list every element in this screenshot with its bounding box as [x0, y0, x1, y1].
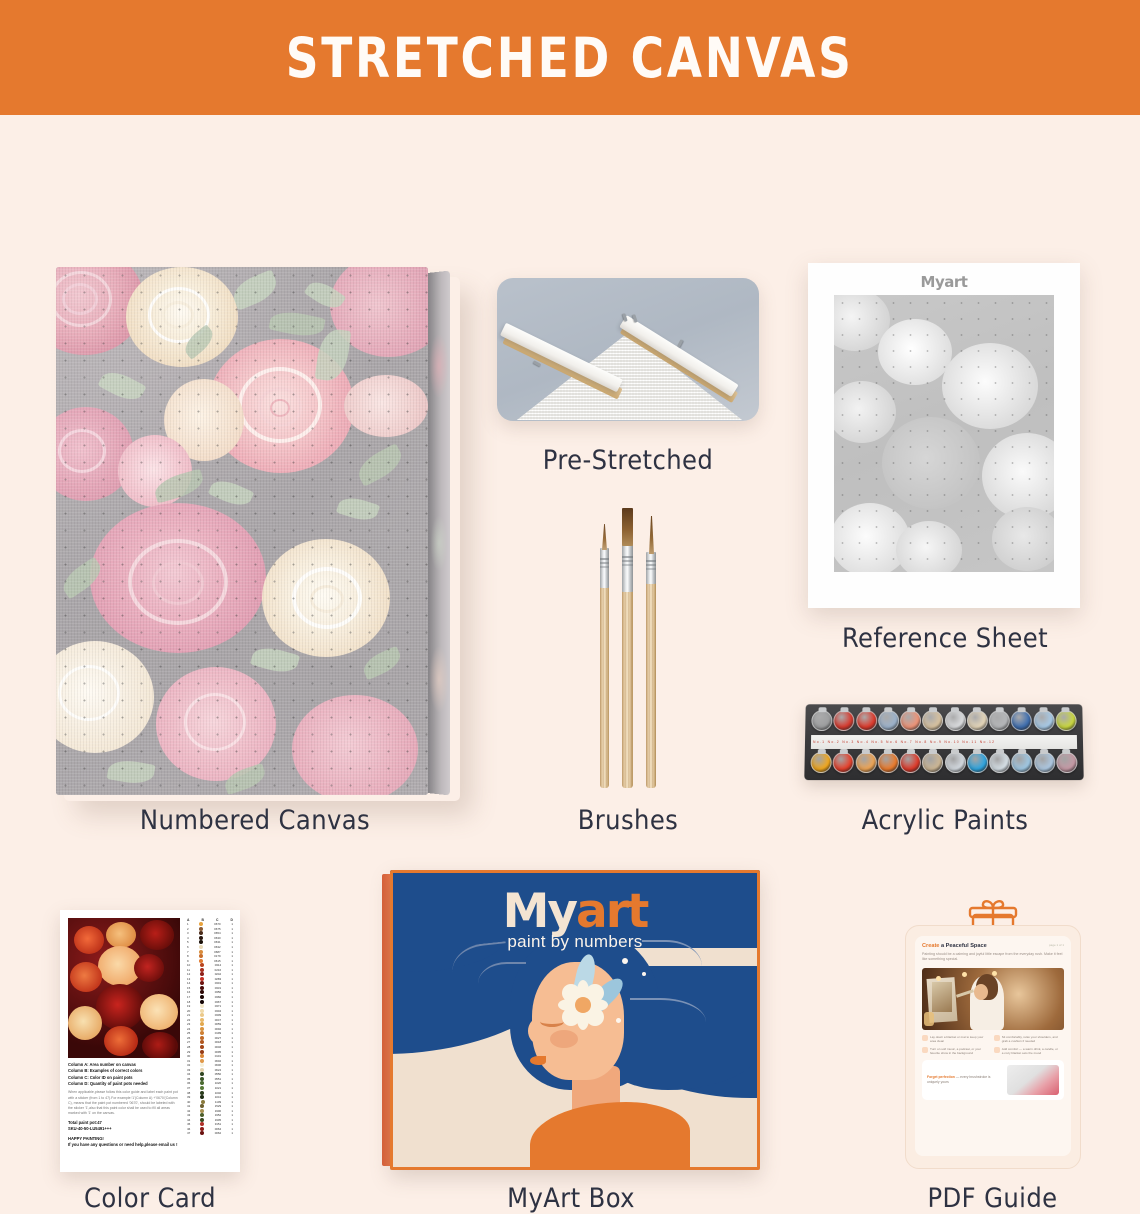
row-area-number: 16: [187, 990, 190, 994]
row-quantity: 1: [231, 1122, 233, 1126]
tip-item: Turn on soft music, a podcast, or your f…: [922, 1047, 989, 1056]
paint-pot[interactable]: [967, 752, 988, 773]
staple-icon: [677, 339, 683, 347]
paint-pot[interactable]: [1011, 752, 1032, 773]
paint-pot[interactable]: [1033, 710, 1054, 731]
brushes-item[interactable]: [586, 503, 670, 788]
paint-pot[interactable]: [945, 752, 966, 773]
row-area-number: 10: [187, 963, 190, 967]
row-area-number: 34: [187, 1072, 190, 1076]
row-quantity: 1: [231, 986, 233, 990]
row-area-number: 17: [187, 995, 190, 999]
row-quantity: 1: [231, 1127, 233, 1131]
row-area-number: 14: [187, 981, 190, 985]
row-area-number: 38: [187, 1091, 190, 1095]
row-color-id: 0092: [215, 1027, 221, 1031]
row-quantity: 1: [231, 1063, 233, 1067]
music-icon: [922, 1047, 928, 1053]
row-color-id: 0101: [215, 1054, 221, 1058]
pdf-page-number: page 1 of 1: [1049, 943, 1064, 947]
pdf-guide-subtitle: Painting should be a calming and joyful …: [922, 952, 1064, 963]
row-color-id: 1905: [215, 1118, 221, 1122]
blanket-icon: [922, 1035, 928, 1041]
row-area-number: 25: [187, 1031, 190, 1035]
row-color-id: 0687: [214, 950, 220, 954]
row-area-number: 40: [187, 1100, 190, 1104]
legend-line: Column D: Quantity of paint pots needed: [68, 1081, 180, 1087]
pdf-guide-page: page 1 of 1 Create a Peaceful Space Pain…: [915, 936, 1071, 1156]
row-area-number: 6: [187, 945, 189, 949]
row-area-number: 11: [187, 968, 190, 972]
myart-logo: Myart: [390, 884, 760, 939]
label-reference-sheet: Reference Sheet: [800, 623, 1090, 654]
row-area-number: 23: [187, 1022, 190, 1026]
logo-my-text: My: [503, 884, 576, 939]
row-area-number: 33: [187, 1068, 190, 1072]
row-quantity: 1: [231, 1091, 233, 1095]
sku: SKU-40-50-LU5491+++: [68, 1126, 180, 1133]
row-area-number: 30: [187, 1054, 190, 1058]
row-quantity: 1: [231, 1018, 233, 1022]
box-front-panel: Myart paint by numbers: [390, 870, 760, 1170]
rose-pattern-artwork: [56, 267, 428, 795]
row-color-id: 0046: [215, 1045, 221, 1049]
daisy-flower: [560, 982, 606, 1028]
label-pre-stretched: Pre-Stretched: [497, 445, 759, 476]
row-area-number: 24: [187, 1027, 190, 1031]
pre-stretched-photo: [497, 278, 759, 421]
row-color-id: 0360: [215, 995, 221, 999]
row-quantity: 1: [231, 1045, 233, 1049]
row-color-id: 0216: [215, 968, 221, 972]
row-quantity: 1: [231, 1009, 233, 1013]
color-card-photo: [68, 918, 180, 1058]
row-color-id: 1040: [215, 1091, 221, 1095]
paint-pot[interactable]: [989, 752, 1010, 773]
row-area-number: 46: [187, 1127, 190, 1131]
product-contents-stage: Numbered Canvas Pre-Stretched Myart: [0, 115, 1140, 1140]
row-color-id: 0615: [214, 959, 220, 963]
reference-sheet-paper: Myart: [808, 263, 1080, 608]
paint-pot[interactable]: [810, 752, 831, 773]
brush-bristles: [622, 508, 633, 546]
row-color-id: 0331: [215, 986, 221, 990]
reference-sheet-logo: Myart: [808, 273, 1080, 291]
footer-text: Forget perfection — every brushstroke is…: [927, 1075, 1002, 1085]
row-color-id: 0047: [215, 1018, 221, 1022]
row-color-swatch: [201, 1100, 205, 1104]
row-color-id: 1020: [215, 1081, 221, 1085]
paint-pot[interactable]: [833, 710, 854, 731]
paint-strip-text: No.1 No.2 No.3 No.4 No.5 No.6 No.7 No.8 …: [811, 740, 995, 744]
row-quantity: 1: [231, 950, 233, 954]
tip-item: Lay down a blanket or mat to keep your a…: [922, 1035, 989, 1044]
pdf-guide-title: Create a Peaceful Space: [922, 943, 1064, 949]
brush-flat: [622, 507, 633, 788]
row-area-number: 35: [187, 1077, 190, 1081]
row-color-id: 0631: [214, 940, 220, 944]
paint-pot[interactable]: [878, 752, 899, 773]
row-color-id: 0018: [215, 1040, 221, 1044]
reference-sheet-item[interactable]: Myart: [808, 263, 1080, 608]
row-area-number: 21: [187, 1013, 190, 1017]
row-color-id: 0350: [215, 990, 221, 994]
row-color-id: 1021: [215, 1086, 221, 1090]
row-quantity: 1: [231, 1113, 233, 1117]
paint-pot-row-bottom: [810, 752, 1077, 773]
paint-pot-label-strip: No.1 No.2 No.3 No.4 No.5 No.6 No.7 No.8 …: [811, 735, 1077, 749]
row-color-id: 0179: [214, 954, 220, 958]
paint-pot[interactable]: [900, 710, 921, 731]
paint-pot[interactable]: [922, 752, 943, 773]
paint-pot[interactable]: [1034, 752, 1055, 773]
row-area-number: 32: [187, 1063, 190, 1067]
row-quantity: 1: [231, 977, 233, 981]
row-area-number: 42: [187, 1109, 190, 1113]
label-acrylic-paints: Acrylic Paints: [800, 805, 1090, 836]
row-color-id: 0283: [215, 977, 221, 981]
row-color-id: 0059: [215, 1022, 221, 1026]
candle-icon: [994, 1047, 1000, 1053]
pdf-guide-tips: Lay down a blanket or mat to keep your a…: [922, 1035, 1064, 1056]
row-quantity: 1: [231, 1104, 233, 1108]
row-area-number: 26: [187, 1036, 190, 1040]
paint-pot-row-top: [811, 710, 1077, 731]
row-area-number: 45: [187, 1122, 190, 1126]
row-color-id: 0606: [215, 1063, 221, 1067]
paint-pot[interactable]: [833, 752, 854, 773]
numbered-canvas-item[interactable]: [56, 267, 456, 797]
row-area-number: 27: [187, 1040, 190, 1044]
row-color-id: 0367: [215, 1000, 221, 1004]
brush-liner: [646, 516, 656, 788]
row-quantity: 1: [231, 972, 233, 976]
row-quantity: 1: [231, 1013, 233, 1017]
row-quantity: 1: [231, 936, 233, 940]
row-quantity: 1: [231, 1109, 233, 1113]
brush-fine: [600, 526, 609, 788]
row-color-id: 1109: [215, 1100, 221, 1104]
row-quantity: 1: [231, 1000, 233, 1004]
row-quantity: 1: [231, 1131, 233, 1135]
label-pdf-guide: PDF Guide: [875, 1183, 1110, 1214]
paint-pot[interactable]: [967, 710, 988, 731]
row-color-id: 1900: [215, 1109, 221, 1113]
paint-pot[interactable]: [1011, 710, 1032, 731]
pre-stretched-item[interactable]: [497, 278, 759, 421]
row-color-id: 0630: [214, 936, 220, 940]
row-color-id: 0095: [215, 1050, 221, 1054]
reference-sheet-artwork: [834, 295, 1054, 572]
row-color-id: 0602: [215, 1059, 221, 1063]
paint-pot[interactable]: [856, 710, 877, 731]
pdf-title-rest: a Peaceful Space: [939, 943, 986, 949]
pdf-guide-card: page 1 of 1 Create a Peaceful Space Pain…: [905, 925, 1081, 1169]
row-area-number: 13: [187, 977, 190, 981]
row-color-id: 1041: [215, 1095, 221, 1099]
brush-bristles: [649, 516, 654, 554]
row-quantity: 1: [231, 954, 233, 958]
row-quantity: 1: [231, 1077, 233, 1081]
paint-pot[interactable]: [945, 710, 966, 731]
tip-text: Sit comfortably, relax your shoulders, a…: [1002, 1035, 1061, 1044]
tip-text: Lay down a blanket or mat to keep your a…: [930, 1035, 989, 1044]
row-color-id: 0309: [215, 1013, 221, 1017]
row-color-id: 0199: [215, 1031, 221, 1035]
color-card-item[interactable]: Column A: Area number on canvas Column B…: [60, 910, 240, 1172]
row-quantity: 1: [231, 959, 233, 963]
row-area-number: 43: [187, 1113, 190, 1117]
color-card-note: When applicable,please follow this color…: [68, 1090, 180, 1116]
row-color-id: 0551: [215, 1077, 221, 1081]
row-area-number: 41: [187, 1104, 190, 1108]
row-color-id: 0064: [215, 1127, 221, 1131]
row-area-number: 29: [187, 1050, 190, 1054]
row-quantity: 1: [231, 968, 233, 972]
row-color-id: 0550: [215, 1072, 221, 1076]
acrylic-paints-item[interactable]: No.1 No.2 No.3 No.4 No.5 No.6 No.7 No.8 …: [805, 704, 1083, 780]
cushion-icon: [994, 1035, 1000, 1041]
row-area-number: 18: [187, 1000, 190, 1004]
row-area-number: 19: [187, 1004, 190, 1008]
paint-pot[interactable]: [1055, 710, 1076, 731]
page-header: STRETCHED CANVAS: [0, 0, 1140, 115]
row-quantity: 1: [231, 927, 233, 931]
color-card-legend: Column A: Area number on canvas Column B…: [68, 1062, 180, 1149]
canvas-wrapped-edge: [428, 270, 450, 795]
row-quantity: 1: [231, 981, 233, 985]
row-area-number: 12: [187, 972, 190, 976]
row-area-number: 3: [187, 931, 189, 935]
label-numbered-canvas: Numbered Canvas: [55, 805, 455, 836]
row-color-id: 0632: [214, 945, 220, 949]
pdf-guide-photo: [922, 968, 1064, 1030]
row-quantity: 1: [231, 1004, 233, 1008]
page-title: STRETCHED CANVAS: [286, 26, 854, 90]
row-color-swatch: [200, 1131, 204, 1135]
row-area-number: 5: [187, 940, 189, 944]
row-quantity: 1: [231, 1050, 233, 1054]
row-quantity: 1: [231, 1022, 233, 1026]
row-area-number: 4: [187, 936, 189, 940]
row-area-number: 22: [187, 1018, 190, 1022]
row-quantity: 1: [231, 1036, 233, 1040]
row-area-number: 2: [187, 927, 189, 931]
canvas-artwork: [56, 267, 428, 795]
footer-brushstroke-image: [1007, 1065, 1059, 1095]
row-area-number: 7: [187, 950, 189, 954]
row-quantity: 1: [231, 1027, 233, 1031]
pdf-guide-item[interactable]: page 1 of 1 Create a Peaceful Space Pain…: [905, 897, 1081, 1169]
paint-pot[interactable]: [922, 710, 943, 731]
row-area-number: 15: [187, 986, 190, 990]
row-quantity: 1: [231, 931, 233, 935]
paint-pot[interactable]: [855, 752, 876, 773]
row-quantity: 1: [231, 1081, 233, 1085]
row-quantity: 1: [231, 1068, 233, 1072]
color-card-table: A B C D 10670120675130654140630150631160…: [187, 918, 233, 1136]
row-quantity: 1: [231, 945, 233, 949]
row-color-id: 0654: [214, 931, 220, 935]
pdf-guide-footer: Forget perfection — every brushstroke is…: [922, 1060, 1064, 1100]
row-color-id: 0624: [215, 1068, 221, 1072]
row-color-id: 0062: [215, 1131, 221, 1135]
row-quantity: 1: [231, 922, 233, 926]
row-color-id: 0371: [215, 1004, 221, 1008]
row-color-id: 0242: [215, 972, 221, 976]
row-color-id: 0027: [215, 1036, 221, 1040]
tip-item: Add comfort — a warm drink, a candle, or…: [994, 1047, 1061, 1056]
row-area-number: 39: [187, 1095, 190, 1099]
row-quantity: 1: [231, 1054, 233, 1058]
row-area-number: 44: [187, 1118, 190, 1122]
paint-pot[interactable]: [878, 710, 899, 731]
row-color-id: 0304: [215, 1009, 221, 1013]
paint-pot[interactable]: [900, 752, 921, 773]
row-quantity: 1: [231, 1059, 233, 1063]
row-area-number: 47: [187, 1131, 190, 1135]
footer-highlight: Forget perfection: [927, 1075, 955, 1079]
label-brushes: Brushes: [497, 805, 759, 836]
brush-bristles: [602, 524, 607, 550]
logo-art-text: art: [576, 884, 647, 939]
paint-pot[interactable]: [1056, 752, 1077, 773]
tip-text: Turn on soft music, a podcast, or your f…: [930, 1047, 989, 1056]
row-quantity: 1: [231, 990, 233, 994]
myart-box-item[interactable]: Myart paint by numbers: [382, 870, 760, 1170]
row-area-number: 31: [187, 1059, 190, 1063]
row-color-id: 1952: [215, 1113, 221, 1117]
paint-pot[interactable]: [989, 710, 1010, 731]
label-color-card: Color Card: [55, 1183, 245, 1214]
row-color-id: 1529: [215, 1104, 221, 1108]
color-card-paper: Column A: Area number on canvas Column B…: [60, 910, 240, 1172]
row-quantity: 1: [231, 940, 233, 944]
row-color-id: 0314: [215, 963, 221, 967]
row-area-number: 20: [187, 1009, 190, 1013]
row-color-id: 3151: [215, 1122, 221, 1126]
row-quantity: 1: [231, 1040, 233, 1044]
row-area-number: 36: [187, 1081, 190, 1085]
row-quantity: 1: [231, 1086, 233, 1090]
row-quantity: 1: [231, 1118, 233, 1122]
row-area-number: 37: [187, 1086, 190, 1090]
row-quantity: 1: [231, 995, 233, 999]
pdf-title-highlight: Create: [922, 943, 939, 949]
label-myart-box: MyArt Box: [382, 1183, 760, 1214]
paint-tray: No.1 No.2 No.3 No.4 No.5 No.6 No.7 No.8 …: [804, 704, 1083, 780]
tip-text: Add comfort — a warm drink, a candle, or…: [1002, 1047, 1061, 1056]
row-area-number: 1: [187, 922, 189, 926]
row-color-id: 0301: [215, 981, 221, 985]
row-color-id: 0675: [214, 927, 220, 931]
row-area-number: 9: [187, 959, 189, 963]
box-tagline: paint by numbers: [390, 932, 760, 952]
row-quantity: 1: [231, 1031, 233, 1035]
row-quantity: 1: [231, 1095, 233, 1099]
row-quantity: 1: [231, 1100, 233, 1104]
paint-pot[interactable]: [811, 710, 832, 731]
row-area-number: 28: [187, 1045, 190, 1049]
color-card-row: 4700621: [187, 1131, 233, 1136]
tip-item: Sit comfortably, relax your shoulders, a…: [994, 1035, 1061, 1044]
row-area-number: 8: [187, 954, 189, 958]
row-quantity: 1: [231, 963, 233, 967]
row-color-id: 0670: [214, 922, 220, 926]
row-quantity: 1: [231, 1072, 233, 1076]
contact-line: If you have any questions or need help,p…: [68, 1142, 180, 1149]
